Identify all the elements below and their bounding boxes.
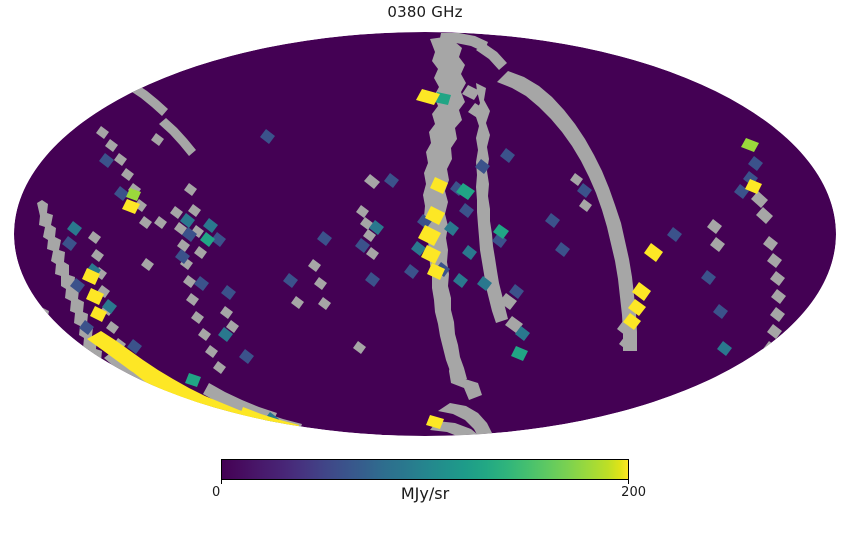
page-title: 0380 GHz <box>0 3 850 21</box>
sky-map-mollweide <box>13 31 837 437</box>
sky-map-plot-area <box>14 32 836 437</box>
colorbar-axis-label: MJy/sr <box>0 484 850 503</box>
colorbar: 0 200 MJy/sr <box>0 455 850 505</box>
colorbar-gradient <box>221 459 629 480</box>
figure-canvas: 0380 GHz <box>0 0 850 540</box>
